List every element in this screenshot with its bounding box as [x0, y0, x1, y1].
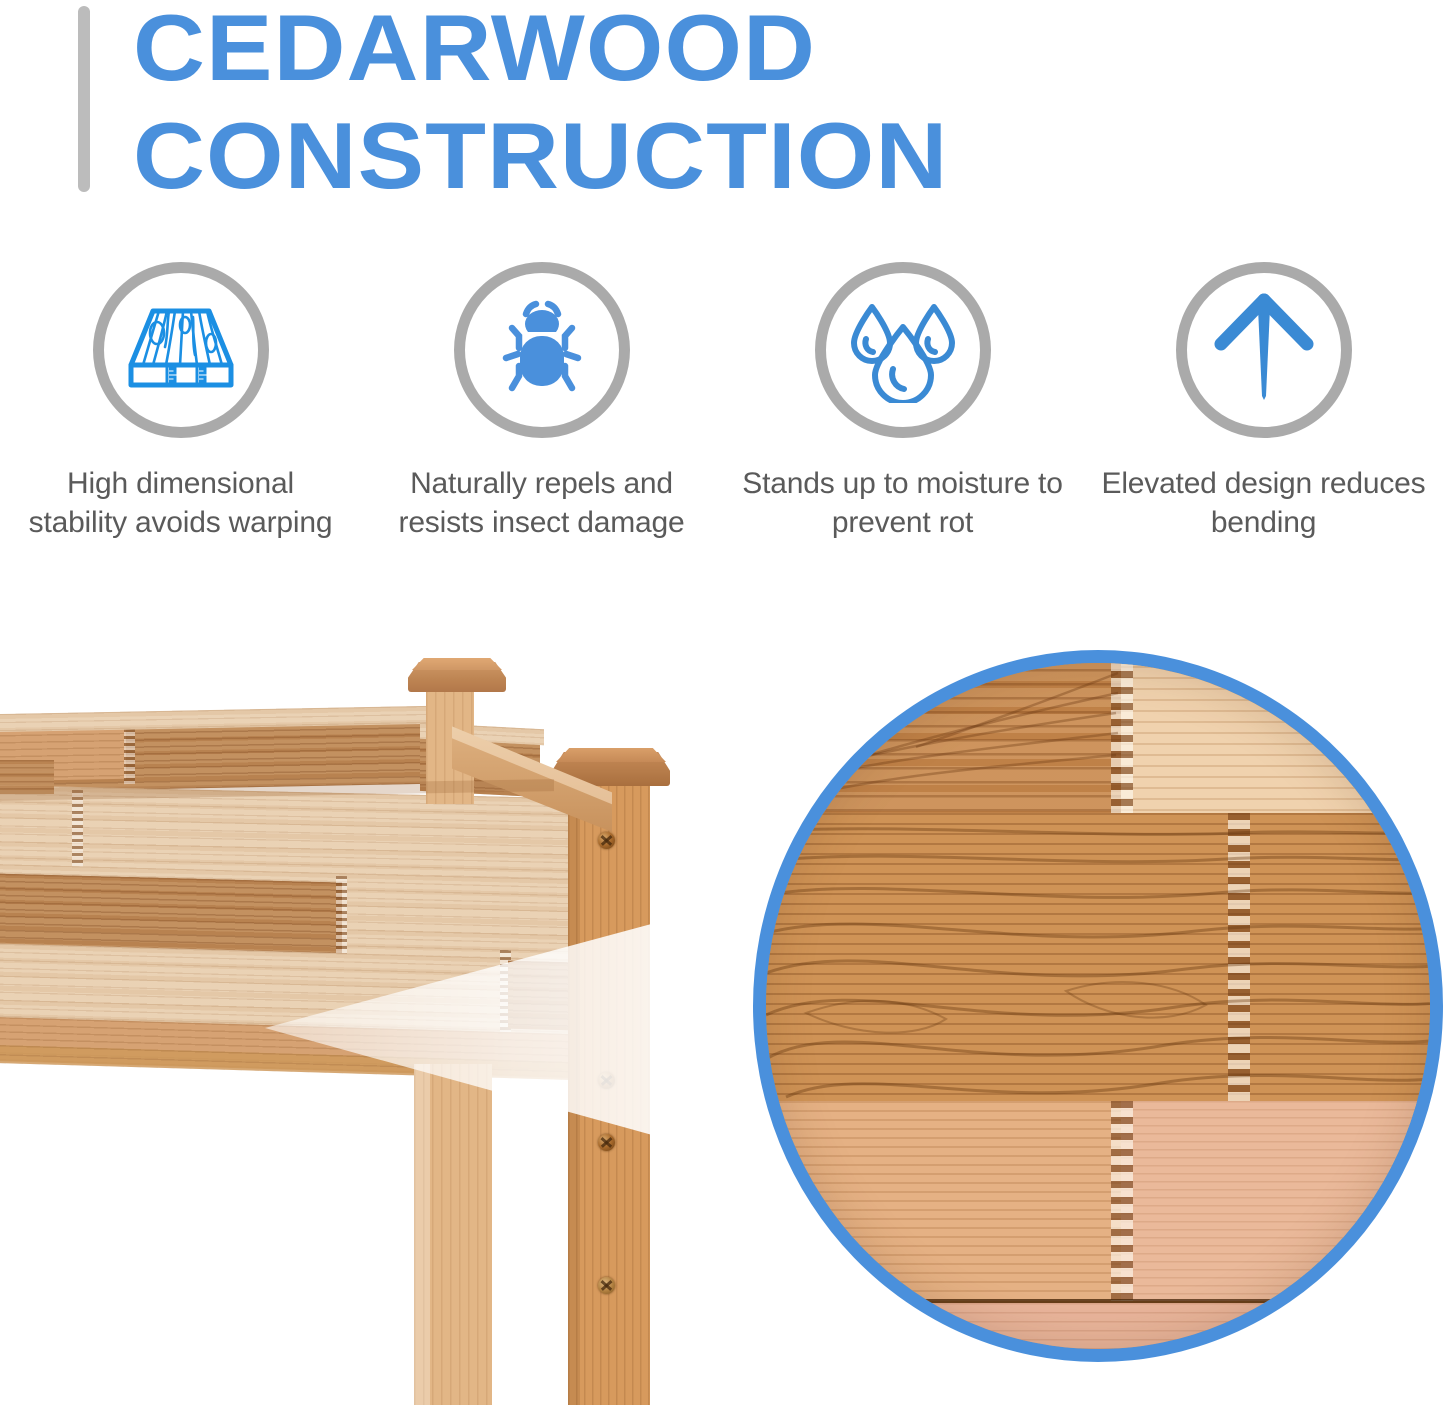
feature-item-elevated-design: Elevated design reduces bending	[1083, 262, 1444, 622]
feature-icon-ring	[1176, 262, 1352, 438]
wood-grain-board-icon	[123, 299, 239, 402]
finger-joint-seam	[72, 790, 83, 878]
feature-caption: Naturally repels and resists insect dama…	[377, 464, 707, 542]
page-title: CEDARWOOD CONSTRUCTION	[133, 0, 1133, 210]
up-arrow-icon	[1209, 292, 1319, 409]
finger-joint-seam	[124, 722, 135, 784]
magnified-wood-grain-view	[753, 650, 1443, 1362]
header-banner: CEDARWOOD CONSTRUCTION	[0, 0, 1445, 230]
title-line-1: CEDARWOOD	[133, 0, 1193, 102]
feature-icon-ring	[93, 262, 269, 438]
title-line-2: CONSTRUCTION	[133, 102, 1193, 210]
title-accent-rule	[78, 6, 90, 192]
feature-icon-ring	[815, 262, 991, 438]
feature-list: High dimensional stability avoids warpin…	[0, 262, 1445, 622]
feature-caption: Stands up to moisture to prevent rot	[738, 464, 1068, 542]
feature-item-moisture-resistant: Stands up to moisture to prevent rot	[722, 262, 1083, 622]
insect-bug-icon	[486, 292, 598, 409]
finger-joint-seam	[336, 876, 347, 956]
planter-rear-leg-highlight	[414, 1064, 430, 1405]
feature-icon-ring	[454, 262, 630, 438]
planter-front-post-cap-top	[556, 748, 666, 762]
mag-lens-shading	[766, 663, 1430, 1349]
screw-fastener	[598, 1134, 615, 1151]
feature-item-stability: High dimensional stability avoids warpin…	[0, 262, 361, 622]
screw-fastener	[598, 1277, 615, 1294]
product-photo-raised-garden-bed	[0, 640, 760, 1405]
feature-item-insect-resistant: Naturally repels and resists insect dama…	[361, 262, 722, 622]
water-droplets-icon	[844, 293, 962, 408]
feature-caption: High dimensional stability avoids warpin…	[16, 464, 346, 542]
planter-rear-post-cap-top	[412, 658, 502, 670]
planter-front-corner-post	[568, 780, 650, 1405]
feature-caption: Elevated design reduces bending	[1099, 464, 1429, 542]
screw-fastener	[598, 832, 615, 849]
planter-post-left-shadow	[568, 780, 580, 1405]
screw-fastener	[598, 1072, 615, 1089]
